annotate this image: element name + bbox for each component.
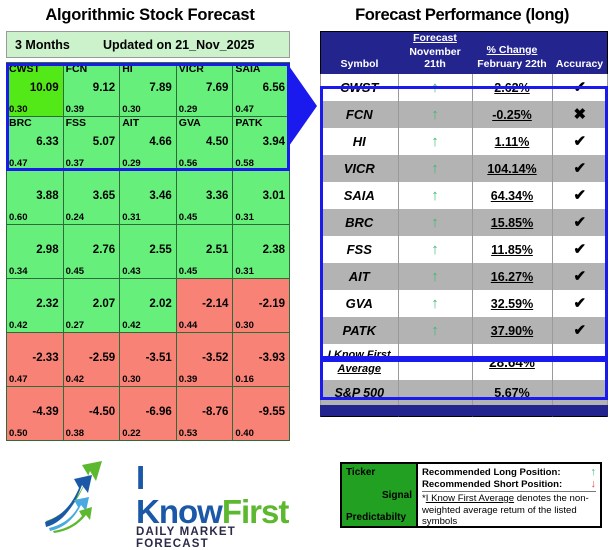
forecast-up-arrow-icon: ↑ bbox=[431, 79, 439, 96]
forecast-up-arrow-icon: ↑ bbox=[431, 268, 439, 285]
grid-row: -2.330.47-2.590.42-3.510.30-3.520.39-3.9… bbox=[7, 333, 290, 387]
benchmark-label-cell: S&P 500 bbox=[321, 380, 399, 405]
col-forecast-sub: November 21th bbox=[398, 46, 472, 74]
forecast-grid: CWST10.090.30FCN9.120.39HI7.890.30VICR7.… bbox=[6, 62, 290, 441]
accuracy-mark-icon: ✔ bbox=[573, 295, 586, 312]
change-percent-text: 1.11% bbox=[495, 135, 530, 149]
benchmark-row: S&P 5005.67% bbox=[321, 380, 608, 405]
row-symbol: FCN bbox=[321, 101, 399, 128]
table-row: CWST↑2.62%✔ bbox=[321, 74, 608, 101]
row-accuracy: ✔ bbox=[552, 155, 608, 182]
grid-cell-ticker: FCN bbox=[66, 64, 88, 75]
grid-cell-signal: -4.50 bbox=[89, 406, 115, 418]
grid-cell-ticker: SAIA bbox=[235, 64, 260, 75]
grid-cell-signal: -3.51 bbox=[146, 352, 172, 364]
row-accuracy: ✔ bbox=[552, 263, 608, 290]
symbol-text: AIT bbox=[349, 269, 370, 284]
grid-row: CWST10.090.30FCN9.120.39HI7.890.30VICR7.… bbox=[7, 63, 290, 117]
grid-cell: 3.010.31 bbox=[233, 171, 290, 225]
grid-cell: FCN9.120.39 bbox=[63, 63, 120, 117]
grid-cell-predictability: 0.58 bbox=[235, 159, 254, 169]
change-percent-text: 15.85% bbox=[491, 216, 533, 230]
legend-down-arrow-icon: ↓ bbox=[591, 479, 597, 491]
grid-cell: -2.140.44 bbox=[176, 279, 233, 333]
grid-cell-predictability: 0.30 bbox=[9, 105, 28, 115]
grid-cell-predictability: 0.22 bbox=[122, 429, 141, 439]
grid-cell: 2.510.45 bbox=[176, 225, 233, 279]
legend-up-arrow-icon: ↑ bbox=[591, 467, 597, 479]
benchmark-label: S&P 500 bbox=[334, 386, 384, 400]
grid-cell-signal: 2.76 bbox=[93, 244, 115, 256]
grid-cell-signal: 6.56 bbox=[263, 82, 285, 94]
row-change: 15.85% bbox=[472, 209, 552, 236]
grid-cell-signal: 3.01 bbox=[263, 190, 285, 202]
average-change-cell: 28.64% bbox=[472, 344, 552, 380]
row-forecast: ↑ bbox=[398, 128, 472, 155]
accuracy-mark-icon: ✖ bbox=[573, 106, 586, 123]
grid-cell-signal: 3.46 bbox=[149, 190, 171, 202]
accuracy-mark-icon: ✔ bbox=[573, 187, 586, 204]
table-row: GVA↑32.59%✔ bbox=[321, 290, 608, 317]
grid-row: -4.390.50-4.500.38-6.960.22-8.760.53-9.5… bbox=[7, 387, 290, 441]
grid-cell-ticker: FSS bbox=[66, 118, 86, 129]
accuracy-mark-icon: ✔ bbox=[573, 79, 586, 96]
logo-wordmark: I KnowFirst bbox=[136, 461, 294, 529]
change-percent-text: 37.90% bbox=[491, 324, 533, 338]
symbol-text: SAIA bbox=[344, 188, 375, 203]
grid-cell-ticker: HI bbox=[122, 64, 133, 75]
grid-cell: SAIA6.560.47 bbox=[233, 63, 290, 117]
grid-cell-ticker: CWST bbox=[9, 64, 40, 75]
table-header-row: Symbol Forecast November 21th % Change F… bbox=[321, 32, 608, 75]
grid-cell-signal: 2.51 bbox=[206, 244, 228, 256]
symbol-text: FCN bbox=[346, 107, 373, 122]
grid-cell: -3.510.30 bbox=[120, 333, 177, 387]
row-symbol: GVA bbox=[321, 290, 399, 317]
grid-cell: 2.760.45 bbox=[63, 225, 120, 279]
grid-cell-signal: -2.14 bbox=[202, 298, 228, 310]
change-percent-text: 32.59% bbox=[491, 297, 533, 311]
row-symbol: HI bbox=[321, 128, 399, 155]
grid-cell: PATK3.940.58 bbox=[233, 117, 290, 171]
symbol-text: CWST bbox=[340, 80, 378, 95]
grid-cell-predictability: 0.56 bbox=[179, 159, 198, 169]
grid-cell: 2.980.34 bbox=[7, 225, 64, 279]
row-accuracy: ✔ bbox=[552, 236, 608, 263]
grid-cell-signal: 3.88 bbox=[36, 190, 58, 202]
grid-cell-predictability: 0.60 bbox=[9, 213, 28, 223]
change-percent-text: -0.25% bbox=[492, 108, 532, 122]
grid-cell: 3.460.31 bbox=[120, 171, 177, 225]
accuracy-mark-icon: ✔ bbox=[573, 268, 586, 285]
average-label-cell: I Know FirstAverage bbox=[321, 344, 399, 380]
legend-box: Ticker Signal Predictabilty Recommended … bbox=[340, 462, 602, 528]
change-percent-text: 104.14% bbox=[487, 162, 536, 176]
col-symbol-label: Symbol bbox=[321, 58, 398, 74]
grid-cell-ticker: BRC bbox=[9, 118, 32, 129]
grid-cell-signal: 3.94 bbox=[263, 136, 285, 148]
row-forecast: ↑ bbox=[398, 236, 472, 263]
row-change: 2.62% bbox=[472, 74, 552, 101]
change-percent-text: 2.62% bbox=[494, 81, 529, 95]
grid-cell: HI7.890.30 bbox=[120, 63, 177, 117]
col-change: % Change February 22th bbox=[472, 32, 552, 75]
grid-cell: BRC6.330.47 bbox=[7, 117, 64, 171]
forecast-up-arrow-icon: ↑ bbox=[431, 322, 439, 339]
row-symbol: FSS bbox=[321, 236, 399, 263]
grid-cell: 2.070.27 bbox=[63, 279, 120, 333]
row-change: 64.34% bbox=[472, 182, 552, 209]
accuracy-mark-icon: ✔ bbox=[573, 241, 586, 258]
grid-row: BRC6.330.47FSS5.070.37AIT4.660.29GVA4.50… bbox=[7, 117, 290, 171]
table-row: HI↑1.11%✔ bbox=[321, 128, 608, 155]
grid-cell-predictability: 0.24 bbox=[66, 213, 85, 223]
legend-short-label: Recommended Short Position: bbox=[422, 479, 591, 491]
left-panel-title: Algorithmic Stock Forecast bbox=[0, 0, 300, 25]
grid-cell-signal: -6.96 bbox=[146, 406, 172, 418]
legend-description-column: Recommended Long Position: ↑ Recommended… bbox=[418, 464, 600, 526]
grid-cell: -4.500.38 bbox=[63, 387, 120, 441]
average-forecast-cell bbox=[398, 344, 472, 380]
grid-cell-signal: 9.12 bbox=[93, 82, 115, 94]
grid-cell: -2.590.42 bbox=[63, 333, 120, 387]
logo-word-first: First bbox=[222, 493, 289, 530]
legend-signal-label: Signal bbox=[346, 490, 412, 501]
grid-cell-predictability: 0.45 bbox=[179, 267, 198, 277]
forecast-up-arrow-icon: ↑ bbox=[431, 133, 439, 150]
table-footer-bar bbox=[321, 405, 608, 417]
grid-cell-signal: -9.55 bbox=[259, 406, 285, 418]
col-accuracy: Accuracy bbox=[552, 32, 608, 75]
row-accuracy: ✖ bbox=[552, 101, 608, 128]
grid-cell: -2.190.30 bbox=[233, 279, 290, 333]
grid-cell-signal: 5.07 bbox=[93, 136, 115, 148]
symbol-text: GVA bbox=[346, 296, 373, 311]
grid-cell-predictability: 0.31 bbox=[235, 213, 254, 223]
row-accuracy: ✔ bbox=[552, 290, 608, 317]
col-accuracy-label: Accuracy bbox=[552, 58, 607, 74]
row-symbol: VICR bbox=[321, 155, 399, 182]
legend-note-underlined: I Know First Average bbox=[426, 493, 514, 504]
row-accuracy: ✔ bbox=[552, 317, 608, 344]
grid-cell-predictability: 0.30 bbox=[122, 375, 141, 385]
benchmark-accuracy-cell bbox=[552, 380, 608, 405]
performance-table: Symbol Forecast November 21th % Change F… bbox=[320, 31, 608, 417]
row-change: -0.25% bbox=[472, 101, 552, 128]
right-panel-title: Forecast Performance (long) bbox=[312, 0, 612, 25]
grid-cell: CWST10.090.30 bbox=[7, 63, 64, 117]
row-forecast: ↑ bbox=[398, 209, 472, 236]
grid-cell-signal: 7.69 bbox=[206, 82, 228, 94]
grid-cell-predictability: 0.38 bbox=[66, 429, 85, 439]
footer-cell bbox=[552, 405, 608, 417]
row-change: 16.27% bbox=[472, 263, 552, 290]
grid-cell-predictability: 0.45 bbox=[66, 267, 85, 277]
table-row: AIT↑16.27%✔ bbox=[321, 263, 608, 290]
grid-cell-predictability: 0.39 bbox=[66, 105, 85, 115]
symbol-text: FSS bbox=[347, 242, 372, 257]
grid-cell-predictability: 0.47 bbox=[9, 375, 28, 385]
grid-cell: 3.880.60 bbox=[7, 171, 64, 225]
forecast-performance-panel: Forecast Performance (long) Symbol Forec… bbox=[312, 0, 612, 450]
grid-cell-signal: -8.76 bbox=[202, 406, 228, 418]
grid-cell-predictability: 0.47 bbox=[235, 105, 254, 115]
forecast-up-arrow-icon: ↑ bbox=[431, 160, 439, 177]
grid-cell: -3.520.39 bbox=[176, 333, 233, 387]
benchmark-change-cell: 5.67% bbox=[472, 380, 552, 405]
grid-cell-predictability: 0.40 bbox=[235, 429, 254, 439]
grid-cell-predictability: 0.50 bbox=[9, 429, 28, 439]
col-forecast-top: Forecast bbox=[398, 32, 472, 46]
grid-cell-ticker: GVA bbox=[179, 118, 201, 129]
logo-word-iknow: I Know bbox=[136, 459, 222, 530]
symbol-text: HI bbox=[353, 134, 366, 149]
grid-cell-predictability: 0.42 bbox=[9, 321, 28, 331]
legend-short-line: Recommended Short Position: ↓ bbox=[422, 479, 596, 491]
grid-cell-signal: 3.36 bbox=[206, 190, 228, 202]
grid-cell-signal: 3.65 bbox=[93, 190, 115, 202]
grid-row: 3.880.603.650.243.460.313.360.453.010.31 bbox=[7, 171, 290, 225]
col-change-sub: February 22th bbox=[472, 58, 552, 74]
grid-cell-predictability: 0.31 bbox=[235, 267, 254, 277]
row-forecast: ↑ bbox=[398, 290, 472, 317]
table-row: BRC↑15.85%✔ bbox=[321, 209, 608, 236]
grid-cell-signal: -2.59 bbox=[89, 352, 115, 364]
algorithmic-forecast-panel: Algorithmic Stock Forecast 3 Months Upda… bbox=[0, 0, 300, 450]
grid-cell: 2.320.42 bbox=[7, 279, 64, 333]
grid-cell-signal: 2.32 bbox=[36, 298, 58, 310]
change-percent-text: 16.27% bbox=[491, 270, 533, 284]
grid-cell: -8.760.53 bbox=[176, 387, 233, 441]
change-percent-text: 11.85% bbox=[491, 243, 533, 257]
benchmark-change-text: 5.67% bbox=[494, 386, 529, 400]
row-accuracy: ✔ bbox=[552, 182, 608, 209]
change-percent-text: 64.34% bbox=[491, 189, 533, 203]
row-forecast: ↑ bbox=[398, 155, 472, 182]
forecast-period-label: 3 Months bbox=[7, 38, 97, 52]
grid-cell-predictability: 0.42 bbox=[122, 321, 141, 331]
average-accuracy-cell bbox=[552, 344, 608, 380]
col-symbol: Symbol bbox=[321, 32, 399, 75]
grid-cell-signal: -2.19 bbox=[259, 298, 285, 310]
row-accuracy: ✔ bbox=[552, 74, 608, 101]
row-symbol: AIT bbox=[321, 263, 399, 290]
grid-cell: 3.360.45 bbox=[176, 171, 233, 225]
grid-cell-signal: 2.55 bbox=[149, 244, 171, 256]
grid-cell-predictability: 0.27 bbox=[66, 321, 85, 331]
grid-cell: 2.550.43 bbox=[120, 225, 177, 279]
forecast-up-arrow-icon: ↑ bbox=[431, 187, 439, 204]
grid-cell-predictability: 0.53 bbox=[179, 429, 198, 439]
grid-cell-signal: 10.09 bbox=[30, 82, 59, 94]
grid-cell-predictability: 0.30 bbox=[235, 321, 254, 331]
average-label-line1: I Know First bbox=[321, 348, 398, 362]
footer-cell bbox=[321, 405, 399, 417]
grid-cell-predictability: 0.45 bbox=[179, 213, 198, 223]
table-row: FCN↑-0.25%✖ bbox=[321, 101, 608, 128]
forecast-up-arrow-icon: ↑ bbox=[431, 214, 439, 231]
grid-cell-ticker: AIT bbox=[122, 118, 139, 129]
grid-cell-predictability: 0.39 bbox=[179, 375, 198, 385]
row-change: 104.14% bbox=[472, 155, 552, 182]
row-forecast: ↑ bbox=[398, 263, 472, 290]
grid-cell-signal: -3.93 bbox=[259, 352, 285, 364]
logo-text: I KnowFirst DAILY MARKET FORECAST bbox=[136, 461, 294, 550]
symbol-text: VICR bbox=[344, 161, 375, 176]
row-change: 32.59% bbox=[472, 290, 552, 317]
grid-cell-signal: 4.66 bbox=[149, 136, 171, 148]
average-row: I Know FirstAverage28.64% bbox=[321, 344, 608, 380]
forecast-up-arrow-icon: ↑ bbox=[431, 241, 439, 258]
row-symbol: BRC bbox=[321, 209, 399, 236]
grid-cell: 2.020.42 bbox=[120, 279, 177, 333]
row-symbol: SAIA bbox=[321, 182, 399, 209]
forecast-up-arrow-icon: ↑ bbox=[431, 106, 439, 123]
row-accuracy: ✔ bbox=[552, 128, 608, 155]
symbol-text: BRC bbox=[345, 215, 373, 230]
row-forecast: ↑ bbox=[398, 182, 472, 209]
row-forecast: ↑ bbox=[398, 101, 472, 128]
benchmark-forecast-cell bbox=[398, 380, 472, 405]
grid-cell: -9.550.40 bbox=[233, 387, 290, 441]
accuracy-mark-icon: ✔ bbox=[573, 160, 586, 177]
iknowfirst-logo: I KnowFirst DAILY MARKET FORECAST bbox=[44, 455, 294, 537]
grid-cell: 2.380.31 bbox=[233, 225, 290, 279]
grid-cell-predictability: 0.42 bbox=[66, 375, 85, 385]
forecast-up-arrow-icon: ↑ bbox=[431, 295, 439, 312]
grid-cell-predictability: 0.47 bbox=[9, 159, 28, 169]
row-forecast: ↑ bbox=[398, 317, 472, 344]
grid-cell-ticker: PATK bbox=[235, 118, 262, 129]
grid-cell-predictability: 0.16 bbox=[235, 375, 254, 385]
table-row: SAIA↑64.34%✔ bbox=[321, 182, 608, 209]
grid-cell: 3.650.24 bbox=[63, 171, 120, 225]
grid-cell-predictability: 0.29 bbox=[179, 105, 198, 115]
grid-cell: FSS5.070.37 bbox=[63, 117, 120, 171]
table-row: FSS↑11.85%✔ bbox=[321, 236, 608, 263]
row-symbol: CWST bbox=[321, 74, 399, 101]
row-forecast: ↑ bbox=[398, 74, 472, 101]
grid-cell-predictability: 0.43 bbox=[122, 267, 141, 277]
legend-key-column: Ticker Signal Predictabilty bbox=[342, 464, 418, 526]
accuracy-mark-icon: ✔ bbox=[573, 322, 586, 339]
col-change-top: % Change bbox=[472, 44, 552, 58]
legend-note: *I Know First Average denotes the non-we… bbox=[422, 491, 596, 528]
symbol-text: PATK bbox=[343, 323, 376, 338]
grid-cell-signal: 4.50 bbox=[206, 136, 228, 148]
grid-cell-signal: -4.39 bbox=[32, 406, 58, 418]
forecast-header-bar: 3 Months Updated on 21_Nov_2025 bbox=[6, 31, 290, 58]
legend-long-label: Recommended Long Position: bbox=[422, 467, 591, 479]
grid-cell-signal: -3.52 bbox=[202, 352, 228, 364]
grid-cell-signal: 2.98 bbox=[36, 244, 58, 256]
average-change-text: 28.64% bbox=[489, 355, 535, 370]
footer-cell bbox=[398, 405, 472, 417]
grid-cell-predictability: 0.30 bbox=[122, 105, 141, 115]
grid-cell-signal: 2.38 bbox=[263, 244, 285, 256]
grid-cell-signal: 2.07 bbox=[93, 298, 115, 310]
legend-predictability-label: Predictabilty bbox=[346, 512, 412, 523]
grid-cell: -6.960.22 bbox=[120, 387, 177, 441]
grid-cell-signal: 2.02 bbox=[149, 298, 171, 310]
row-change: 11.85% bbox=[472, 236, 552, 263]
col-forecast: Forecast November 21th bbox=[398, 32, 472, 75]
accuracy-mark-icon: ✔ bbox=[573, 214, 586, 231]
table-row: PATK↑37.90%✔ bbox=[321, 317, 608, 344]
grid-cell-predictability: 0.29 bbox=[122, 159, 141, 169]
row-change: 1.11% bbox=[472, 128, 552, 155]
grid-row: 2.980.342.760.452.550.432.510.452.380.31 bbox=[7, 225, 290, 279]
grid-cell-predictability: 0.31 bbox=[122, 213, 141, 223]
grid-cell-ticker: VICR bbox=[179, 64, 204, 75]
grid-cell-predictability: 0.37 bbox=[66, 159, 85, 169]
legend-ticker-label: Ticker bbox=[346, 467, 412, 478]
table-row: VICR↑104.14%✔ bbox=[321, 155, 608, 182]
grid-cell: -3.930.16 bbox=[233, 333, 290, 387]
footer-cell bbox=[472, 405, 552, 417]
grid-cell: AIT4.660.29 bbox=[120, 117, 177, 171]
average-label-line2: Average bbox=[321, 362, 398, 376]
row-accuracy: ✔ bbox=[552, 209, 608, 236]
row-symbol: PATK bbox=[321, 317, 399, 344]
grid-cell: GVA4.500.56 bbox=[176, 117, 233, 171]
row-change: 37.90% bbox=[472, 317, 552, 344]
grid-cell-signal: -2.33 bbox=[32, 352, 58, 364]
grid-cell-signal: 6.33 bbox=[36, 136, 58, 148]
grid-row: 2.320.422.070.272.020.42-2.140.44-2.190.… bbox=[7, 279, 290, 333]
accuracy-mark-icon: ✔ bbox=[573, 133, 586, 150]
grid-cell: -2.330.47 bbox=[7, 333, 64, 387]
grid-cell-predictability: 0.34 bbox=[9, 267, 28, 277]
forecast-updated-label: Updated on 21_Nov_2025 bbox=[97, 38, 289, 52]
grid-cell: VICR7.690.29 bbox=[176, 63, 233, 117]
legend-long-line: Recommended Long Position: ↑ bbox=[422, 467, 596, 479]
grid-cell: -4.390.50 bbox=[7, 387, 64, 441]
grid-cell-signal: 7.89 bbox=[149, 82, 171, 94]
grid-cell-predictability: 0.44 bbox=[179, 321, 198, 331]
logo-arrows-icon bbox=[44, 455, 136, 535]
